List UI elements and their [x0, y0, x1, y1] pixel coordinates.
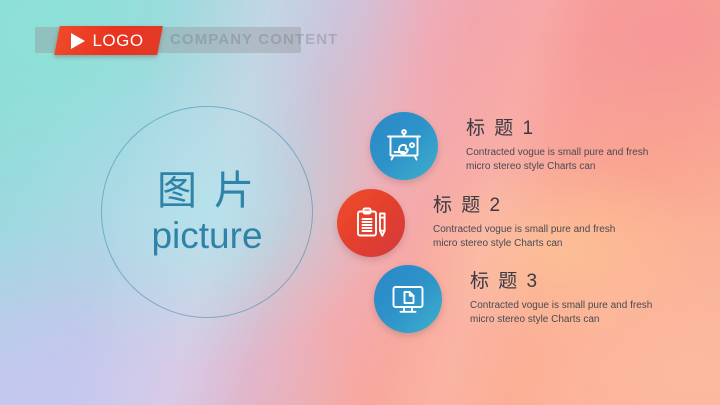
feature-text-1: 标 题 1 Contracted vogue is small pure and… — [438, 112, 648, 175]
logo-label: LOGO — [92, 32, 143, 50]
feature-item-3[interactable]: 标 题 3 Contracted vogue is small pure and… — [374, 265, 652, 333]
feature-title-3: 标 题 3 — [470, 271, 652, 294]
presentation-chart-board-icon — [370, 112, 438, 180]
feature-title-1: 标 题 1 — [466, 118, 648, 141]
play-triangle-icon — [71, 33, 85, 49]
feature-description-3: Contracted vogue is small pure and fresh… — [470, 299, 652, 328]
feature-description-1: Contracted vogue is small pure and fresh… — [466, 146, 648, 175]
company-content-text: COMPANY CONTENT — [170, 31, 338, 48]
slide-canvas: COMPANY CONTENT LOGO 图 片 picture — [0, 0, 720, 405]
logo-badge[interactable]: LOGO — [54, 26, 163, 55]
feature-title-2: 标 题 2 — [433, 195, 615, 218]
feature-text-3: 标 题 3 Contracted vogue is small pure and… — [442, 265, 652, 328]
clipboard-pencil-icon — [337, 189, 405, 257]
picture-placeholder[interactable]: 图 片 picture — [101, 106, 313, 318]
feature-description-2: Contracted vogue is small pure and fresh… — [433, 223, 615, 252]
feature-item-2[interactable]: 标 题 2 Contracted vogue is small pure and… — [337, 189, 615, 257]
picture-label-cn: 图 片 — [157, 168, 257, 214]
feature-item-1[interactable]: 标 题 1 Contracted vogue is small pure and… — [370, 112, 648, 180]
feature-text-2: 标 题 2 Contracted vogue is small pure and… — [405, 189, 615, 252]
monitor-document-icon — [374, 265, 442, 333]
picture-label-en: picture — [151, 216, 262, 257]
